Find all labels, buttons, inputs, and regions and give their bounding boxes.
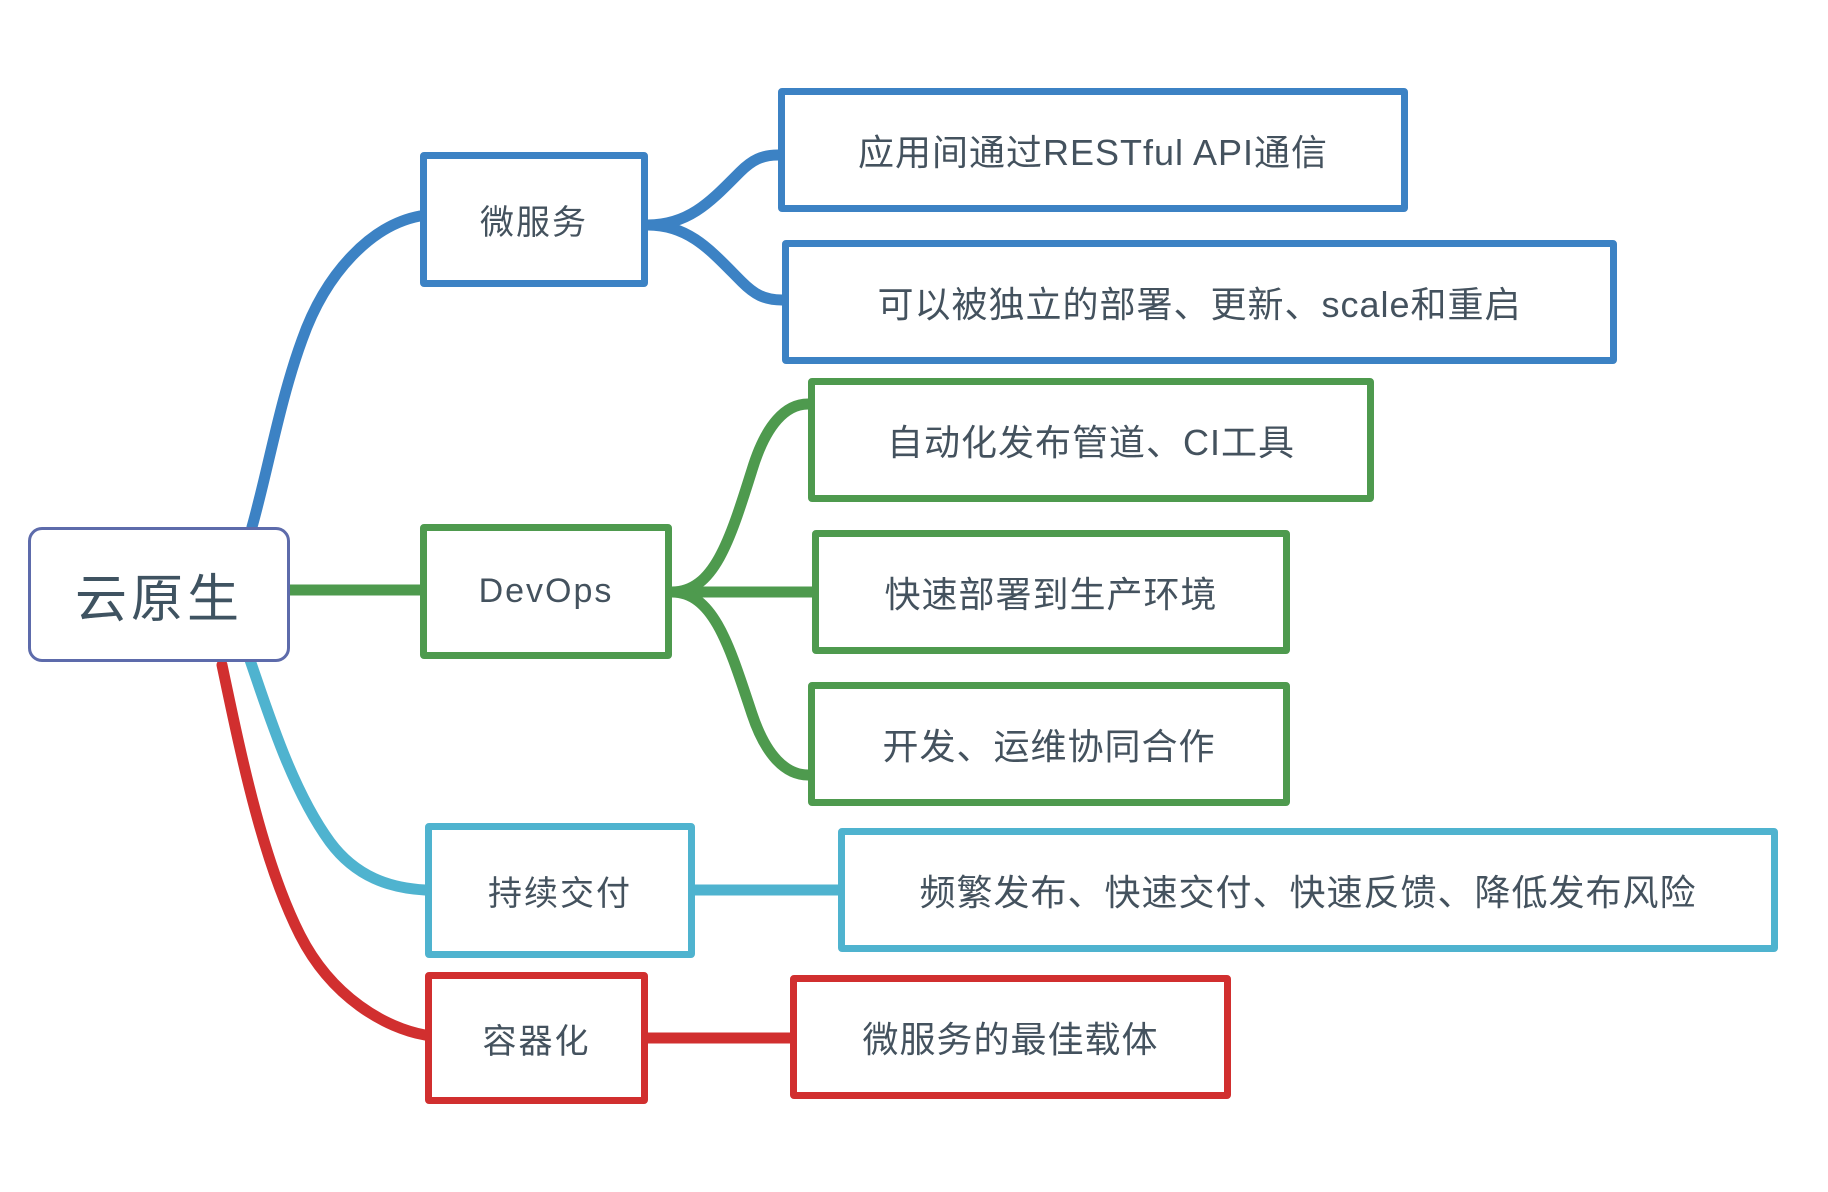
node-leaf-continuous-delivery-benefits[interactable]: 频繁发布、快速交付、快速反馈、降低发布风险: [838, 828, 1778, 952]
edge-devops-to-child-3: [672, 592, 808, 775]
node-branch-devops[interactable]: DevOps: [420, 524, 672, 659]
node-leaf-microservices-restful-api-label: 应用间通过RESTful API通信: [858, 124, 1328, 176]
edge-root-to-continuous-delivery: [250, 660, 425, 890]
node-branch-containerization[interactable]: 容器化: [425, 972, 648, 1104]
node-leaf-continuous-delivery-benefits-label: 频繁发布、快速交付、快速反馈、降低发布风险: [919, 864, 1696, 916]
edge-microservices-to-child-2: [648, 225, 782, 300]
node-leaf-containerization-best-carrier-label: 微服务的最佳载体: [862, 1011, 1158, 1063]
node-leaf-devops-ci-pipeline-label: 自动化发布管道、CI工具: [887, 414, 1295, 466]
node-branch-devops-label: DevOps: [479, 572, 614, 611]
node-leaf-devops-dev-ops-collaboration[interactable]: 开发、运维协同合作: [808, 682, 1290, 806]
node-branch-continuous-delivery-label: 持续交付: [488, 866, 632, 915]
node-branch-containerization-label: 容器化: [483, 1014, 591, 1063]
node-leaf-devops-ci-pipeline[interactable]: 自动化发布管道、CI工具: [808, 378, 1374, 502]
node-leaf-microservices-independent-deploy[interactable]: 可以被独立的部署、更新、scale和重启: [782, 240, 1617, 364]
node-root-label: 云原生: [75, 557, 243, 632]
edge-root-to-microservices: [252, 216, 420, 527]
node-leaf-devops-dev-ops-collaboration-label: 开发、运维协同合作: [882, 718, 1215, 770]
node-leaf-devops-fast-production-deploy[interactable]: 快速部署到生产环境: [812, 530, 1290, 654]
node-branch-continuous-delivery[interactable]: 持续交付: [425, 823, 695, 958]
node-branch-microservices[interactable]: 微服务: [420, 152, 648, 287]
node-leaf-microservices-restful-api[interactable]: 应用间通过RESTful API通信: [778, 88, 1408, 212]
edge-root-to-containerization: [222, 665, 425, 1035]
node-leaf-devops-fast-production-deploy-label: 快速部署到生产环境: [884, 566, 1217, 618]
edge-microservices-to-child-1: [648, 155, 778, 225]
node-leaf-containerization-best-carrier[interactable]: 微服务的最佳载体: [790, 975, 1231, 1099]
edge-devops-to-child-1: [672, 404, 808, 592]
node-root-cloud-native[interactable]: 云原生: [28, 527, 290, 662]
node-branch-microservices-label: 微服务: [480, 195, 588, 244]
node-leaf-microservices-independent-deploy-label: 可以被独立的部署、更新、scale和重启: [877, 276, 1521, 328]
mindmap-canvas: 云原生 微服务 应用间通过RESTful API通信 可以被独立的部署、更新、s…: [0, 0, 1828, 1192]
